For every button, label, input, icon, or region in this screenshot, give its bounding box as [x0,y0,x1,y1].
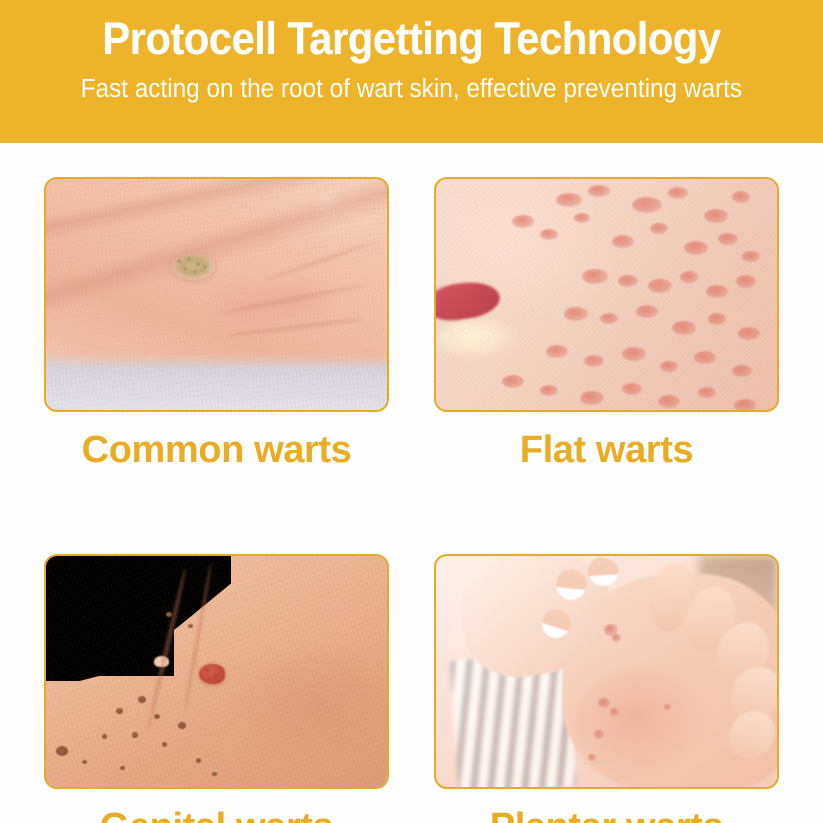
caption-common-warts: Common warts [44,431,389,469]
image-card-common-warts[interactable] [44,177,389,412]
cheek-flat-warts-photo [436,179,777,410]
skin-texture-overlay [46,556,387,787]
image-card-flat-warts[interactable] [434,177,779,412]
wart-type-cell-flat: Flat warts [434,177,779,469]
caption-plantar-warts: Plantar warts [434,808,779,823]
wart-type-grid: Common warts [44,177,779,823]
skin-texture-overlay [46,179,387,410]
hand-finger-common-wart-photo [46,179,387,410]
page-title: Protocell Targetting Technology [102,14,720,64]
promo-banner: Protocell Targetting Technology Fast act… [0,0,823,823]
image-card-plantar-warts[interactable] [434,554,779,789]
foot-sole-plantar-warts-photo [436,556,777,787]
caption-genital-warts: Genital warts [44,808,389,823]
grid-row-2: Genital warts [44,554,779,823]
wart-type-cell-common: Common warts [44,177,389,469]
page-subtitle: Fast acting on the root of wart skin, ef… [81,75,742,103]
image-card-genital-warts[interactable] [44,554,389,789]
caption-flat-warts: Flat warts [434,431,779,469]
skin-texture-overlay [436,179,777,410]
plantar-wart-lesion-group [436,556,777,787]
neck-genital-wart-photo [46,556,387,787]
common-wart-lesion [171,253,215,280]
grid-row-1: Common warts [44,177,779,469]
wart-type-cell-genital: Genital warts [44,554,389,823]
wart-type-cell-plantar: Plantar warts [434,554,779,823]
header-band: Protocell Targetting Technology Fast act… [0,0,823,143]
